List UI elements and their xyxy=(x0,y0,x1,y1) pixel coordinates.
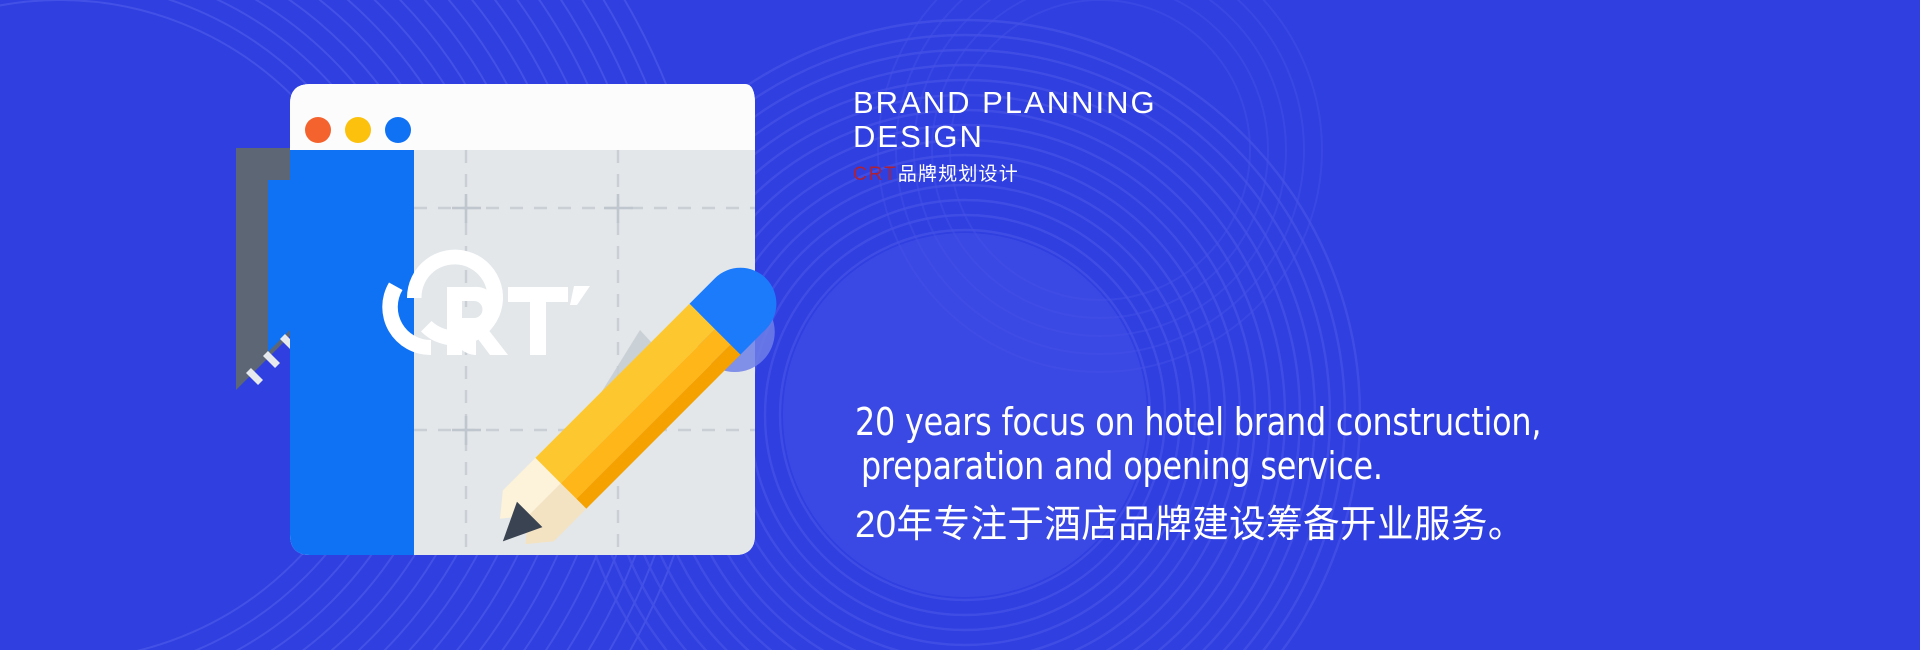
brand-banner: BRAND PLANNING DESIGN CRT品牌规划设计 20 years… xyxy=(0,0,1920,650)
tagline-cn-line: 20年专注于酒店品牌建设筹备开业服务。 xyxy=(855,502,1661,548)
dot-red-icon xyxy=(305,117,331,143)
dot-blue-icon xyxy=(385,117,411,143)
subtitle-brand-mark: CRT xyxy=(853,164,898,185)
heading-line-2: DESIGN xyxy=(853,120,1157,154)
heading-subtitle: CRT品牌规划设计 xyxy=(853,163,1157,187)
window-control-dots xyxy=(305,117,411,143)
dot-yellow-icon xyxy=(345,117,371,143)
tagline-en-line-2: preparation and opening service. xyxy=(861,444,1637,488)
tagline-block: 20 years focus on hotel brand constructi… xyxy=(855,400,1695,548)
heading-line-1: BRAND PLANNING xyxy=(853,86,1157,120)
heading-block: BRAND PLANNING DESIGN CRT品牌规划设计 xyxy=(853,86,1157,187)
subtitle-chinese-text: 品牌规划设计 xyxy=(898,164,1019,185)
text-column: BRAND PLANNING DESIGN CRT品牌规划设计 20 years… xyxy=(853,0,1853,650)
tagline-en-line-1: 20 years focus on hotel brand constructi… xyxy=(855,400,1636,444)
